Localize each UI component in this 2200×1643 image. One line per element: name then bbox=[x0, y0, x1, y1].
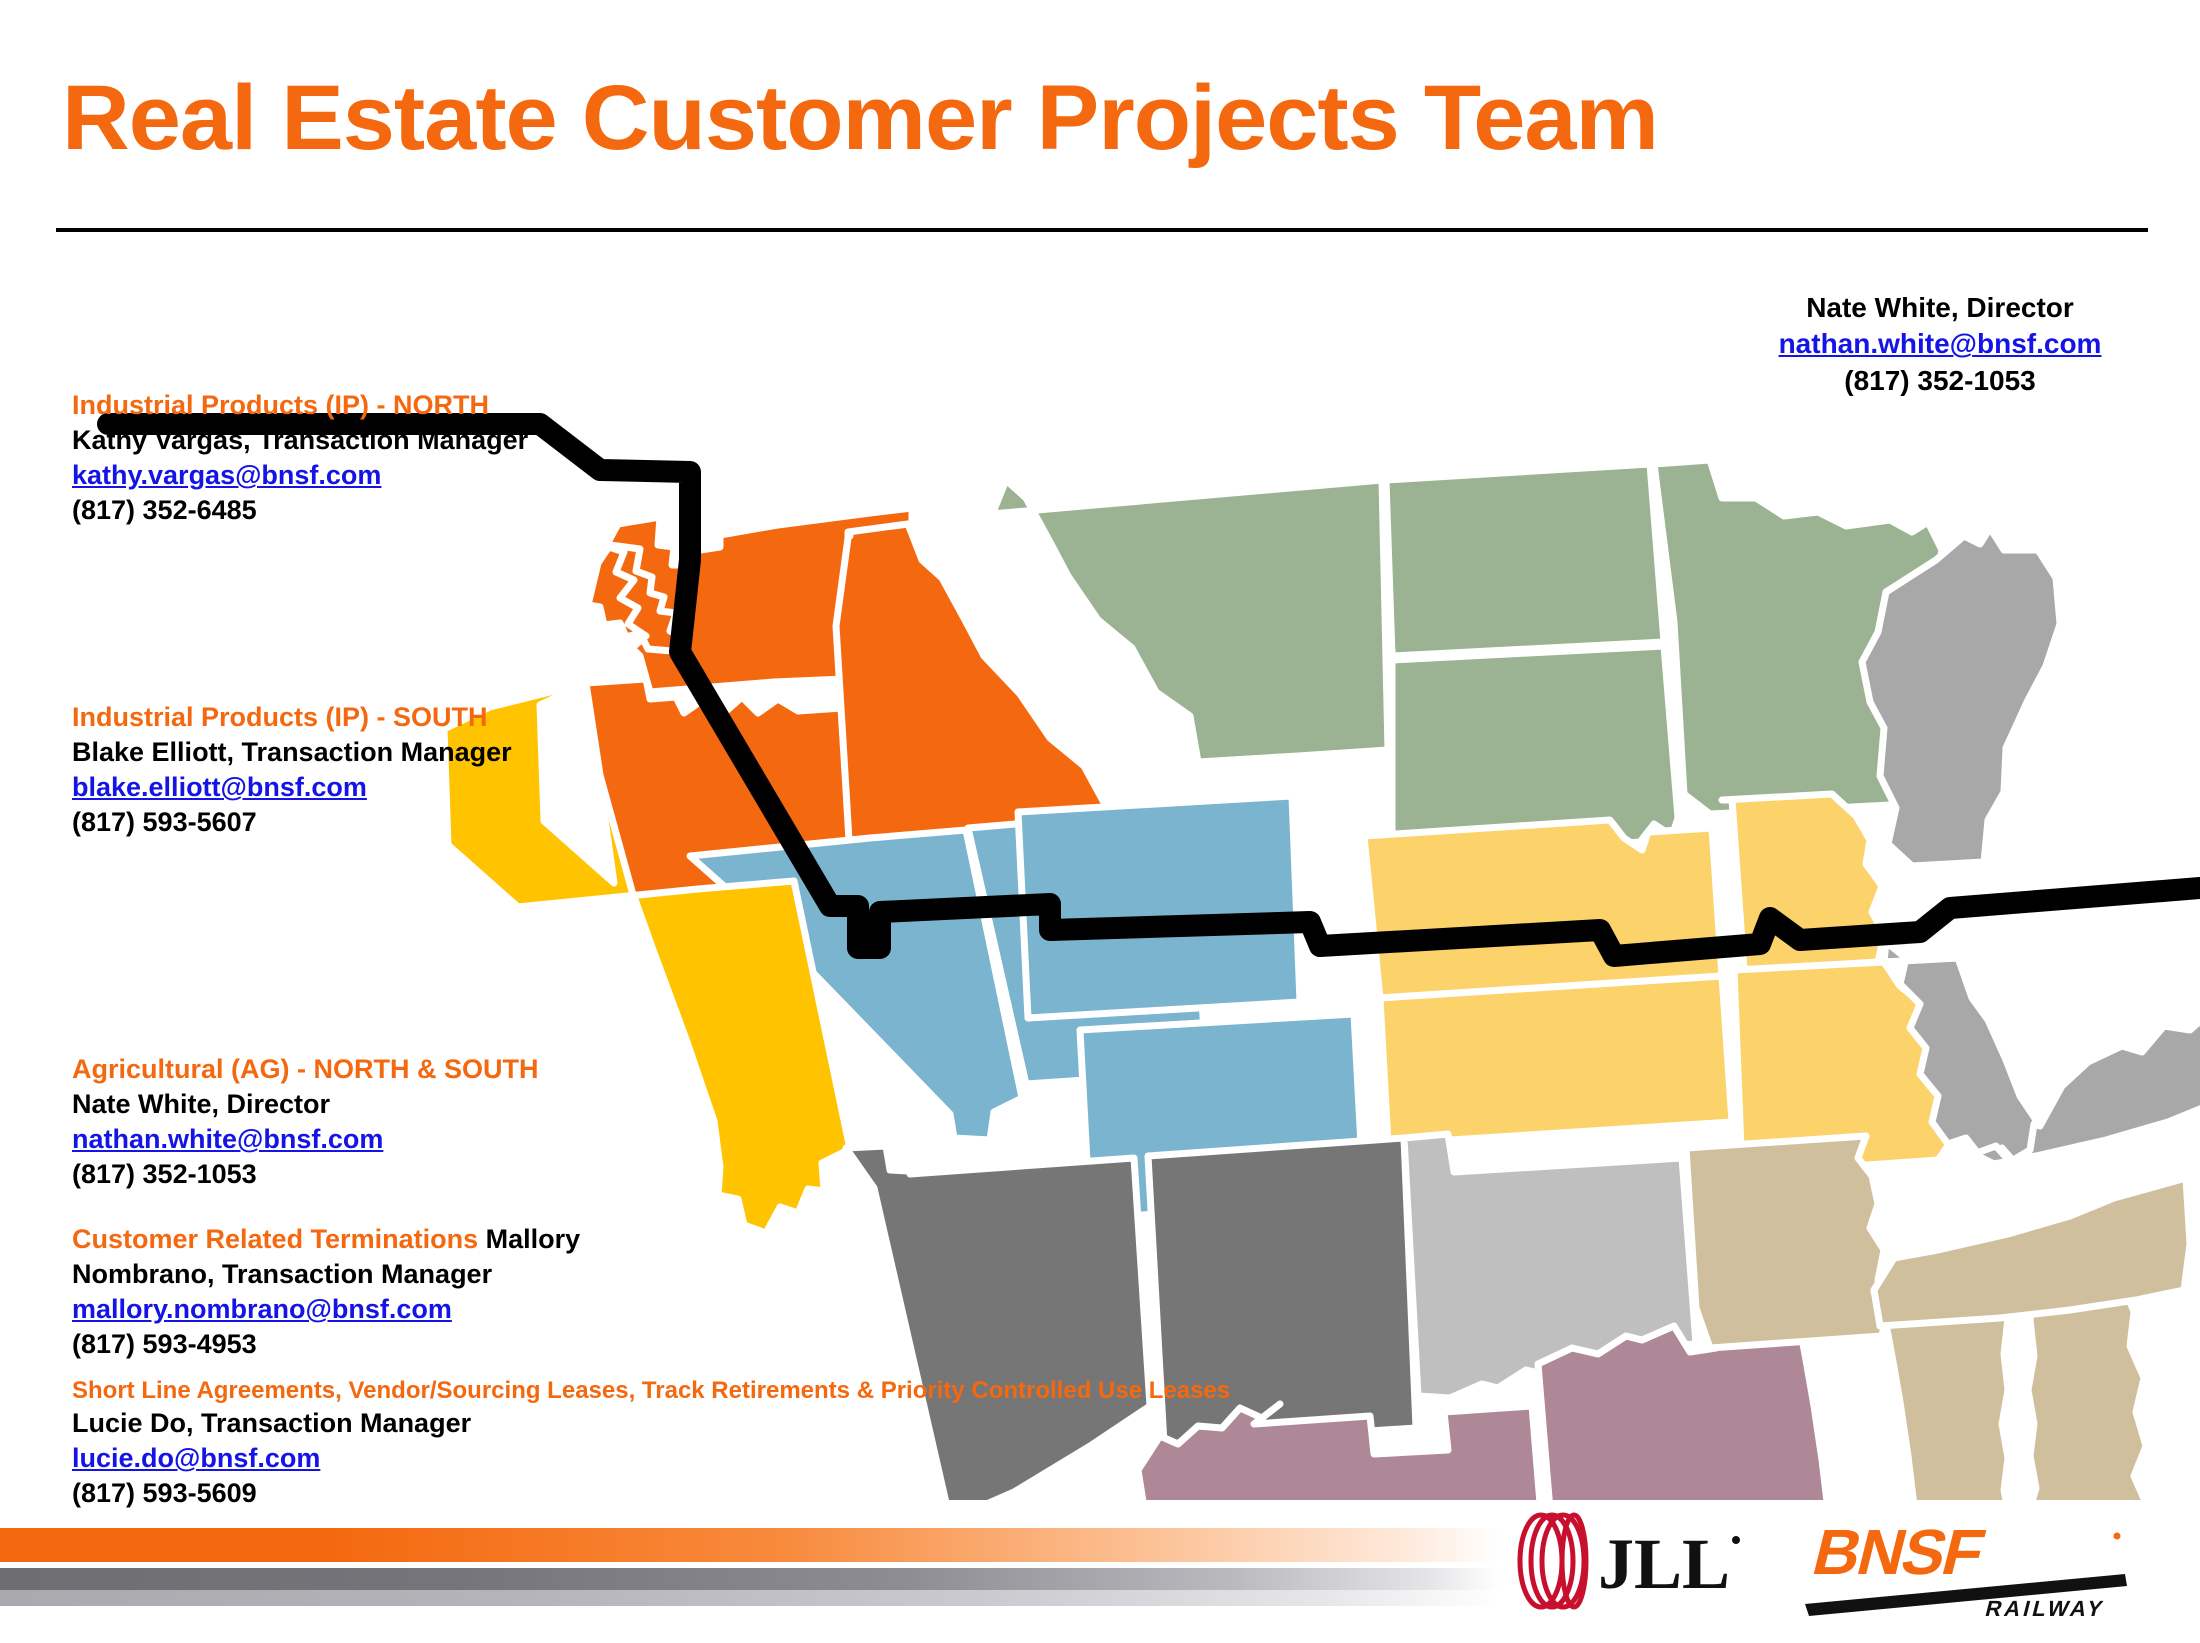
contact-heading: Short Line Agreements, Vendor/Sourcing L… bbox=[72, 1375, 1230, 1406]
contact-heading: Agricultural (AG) - NORTH & SOUTH bbox=[72, 1052, 539, 1087]
contact-block-director: Nate White, Director nathan.white@bnsf.c… bbox=[1740, 290, 2140, 399]
contact-name: Nate White, Director bbox=[1740, 290, 2140, 326]
contact-phone: (817) 593-5609 bbox=[72, 1476, 1230, 1511]
contact-heading-tail: Mallory bbox=[478, 1224, 580, 1254]
map-region-AR[interactable] bbox=[1686, 1136, 1888, 1348]
contact-heading-orange: Customer Related Terminations bbox=[72, 1224, 478, 1254]
map-region-ND[interactable] bbox=[1386, 464, 1664, 656]
contact-block-ip-north: Industrial Products (IP) - NORTH Kathy V… bbox=[72, 388, 528, 528]
contact-heading: Industrial Products (IP) - NORTH bbox=[72, 388, 528, 423]
contact-email-link[interactable]: lucie.do@bnsf.com bbox=[72, 1441, 320, 1476]
map-region-NE[interactable] bbox=[1364, 820, 1722, 998]
map-region-KS[interactable] bbox=[1380, 976, 1732, 1144]
contact-block-terminations: Customer Related Terminations Mallory No… bbox=[72, 1222, 632, 1362]
contact-phone: (817) 593-4953 bbox=[72, 1327, 632, 1362]
jll-rings-icon bbox=[1520, 1515, 1586, 1607]
registered-mark-icon bbox=[2114, 1533, 2121, 1540]
jll-logo: JLL bbox=[1508, 1506, 1748, 1616]
bnsf-wordmark: BNSF bbox=[1806, 1516, 1990, 1588]
contact-phone: (817) 593-5607 bbox=[72, 805, 512, 840]
contact-email-link[interactable]: mallory.nombrano@bnsf.com bbox=[72, 1292, 452, 1327]
contact-email-link[interactable]: kathy.vargas@bnsf.com bbox=[72, 458, 381, 493]
map-region-TN[interactable] bbox=[1874, 1178, 2190, 1326]
contact-name: Nate White, Director bbox=[72, 1087, 539, 1122]
page-title: Real Estate Customer Projects Team bbox=[62, 70, 1658, 167]
contact-heading: Customer Related Terminations Mallory bbox=[72, 1222, 632, 1257]
title-divider bbox=[56, 228, 2148, 232]
jll-wordmark: JLL bbox=[1598, 1524, 1730, 1604]
bnsf-sub-wordmark: RAILWAY bbox=[1983, 1596, 2108, 1621]
bnsf-logo: BNSF RAILWAY bbox=[1795, 1512, 2145, 1622]
contact-block-shortline: Short Line Agreements, Vendor/Sourcing L… bbox=[72, 1375, 1230, 1511]
contact-block-agricultural: Agricultural (AG) - NORTH & SOUTH Nate W… bbox=[72, 1052, 539, 1192]
contact-name: Lucie Do, Transaction Manager bbox=[72, 1406, 1230, 1441]
contact-heading: Industrial Products (IP) - SOUTH bbox=[72, 700, 512, 735]
slide-root: Real Estate Customer Projects Team bbox=[0, 0, 2200, 1643]
registered-mark-icon bbox=[1732, 1536, 1740, 1544]
map-region-LA[interactable] bbox=[1538, 1326, 1842, 1500]
contact-email-link[interactable]: nathan.white@bnsf.com bbox=[72, 1122, 383, 1157]
contact-email-link[interactable]: blake.elliott@bnsf.com bbox=[72, 770, 367, 805]
contact-name: Nombrano, Transaction Manager bbox=[72, 1257, 632, 1292]
contact-phone: (817) 352-1053 bbox=[72, 1157, 539, 1192]
contact-name: Blake Elliott, Transaction Manager bbox=[72, 735, 512, 770]
footer-gray-bar bbox=[0, 1568, 1500, 1590]
contact-email-link[interactable]: nathan.white@bnsf.com bbox=[1779, 326, 2102, 362]
contact-block-ip-south: Industrial Products (IP) - SOUTH Blake E… bbox=[72, 700, 512, 840]
contact-name: Kathy Vargas, Transaction Manager bbox=[72, 423, 528, 458]
footer-gray-bar-secondary bbox=[0, 1590, 1500, 1606]
contact-phone: (817) 352-1053 bbox=[1740, 363, 2140, 399]
contact-phone: (817) 352-6485 bbox=[72, 493, 528, 528]
footer-orange-bar bbox=[0, 1528, 1500, 1562]
